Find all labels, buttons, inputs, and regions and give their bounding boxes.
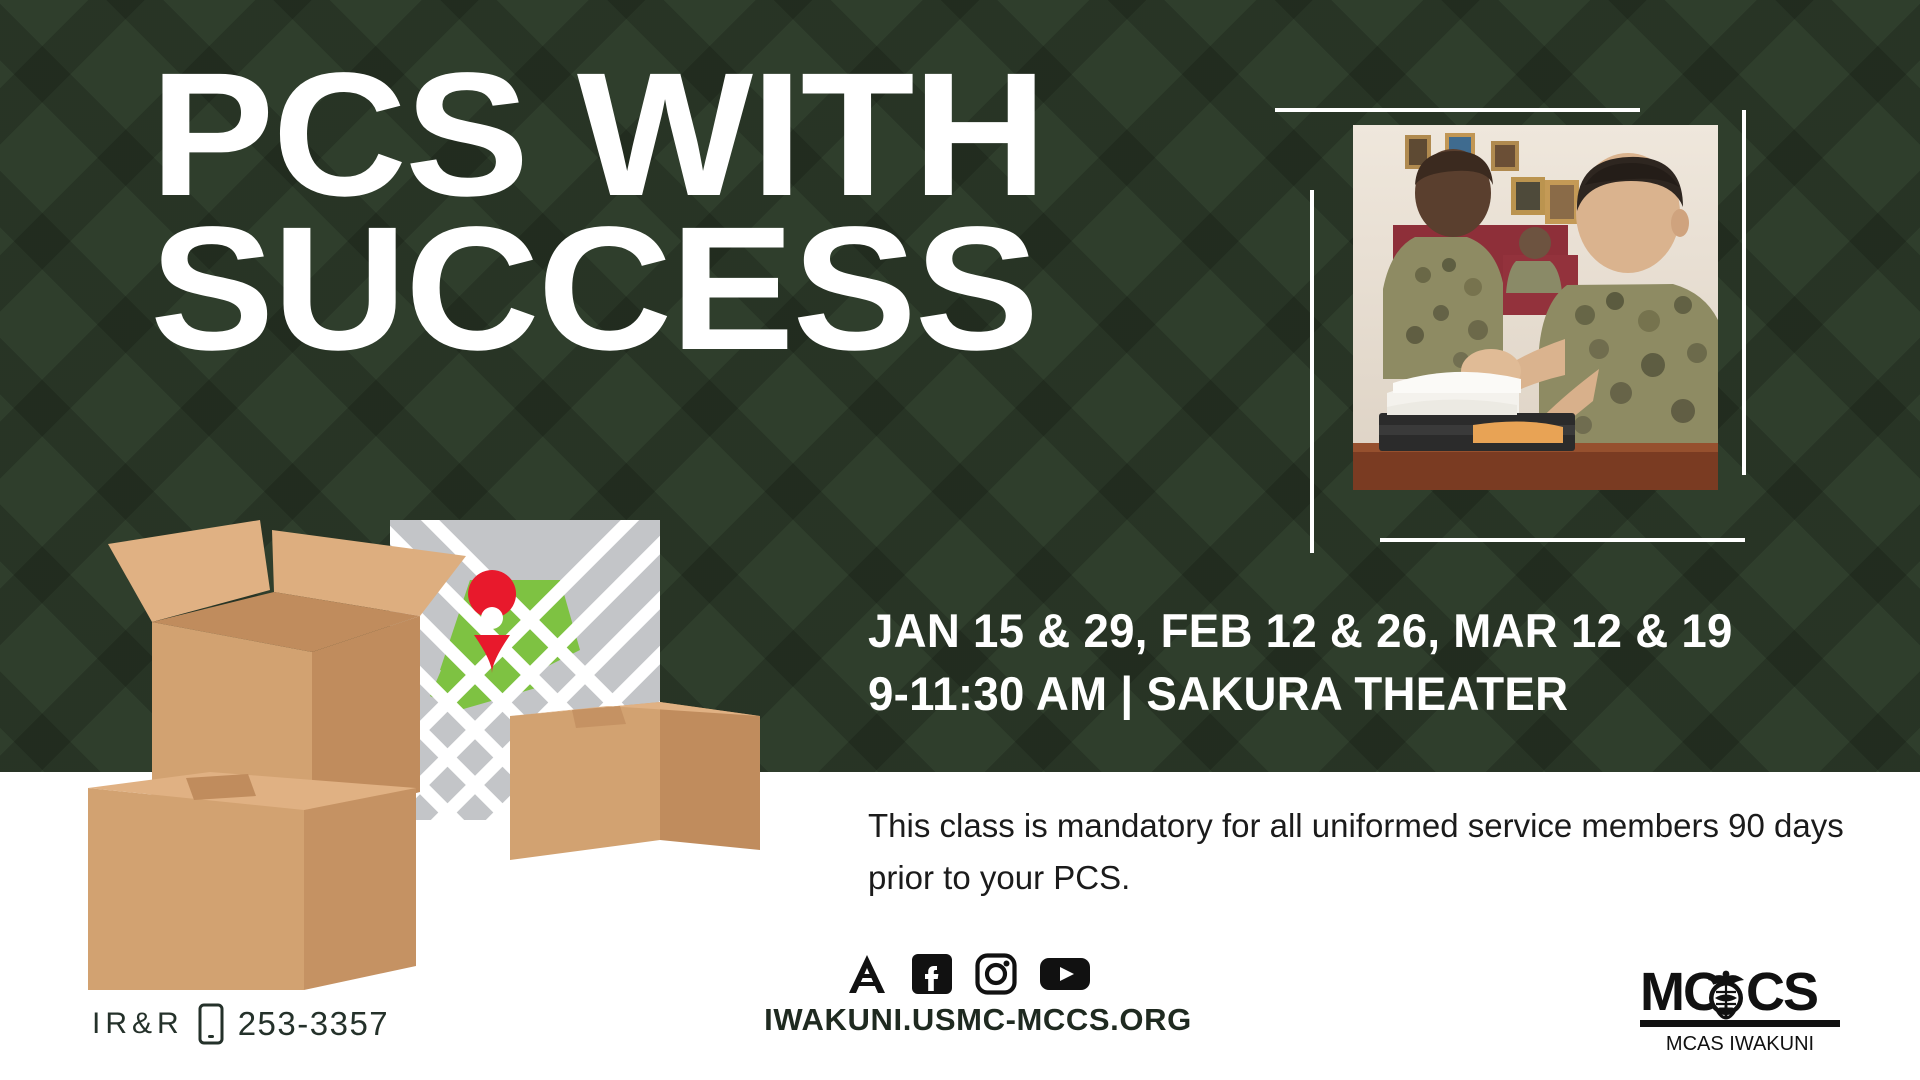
moving-boxes-and-map-illustration [60, 520, 820, 990]
event-time-location: 9-11:30 AM | SAKURA THEATER [868, 663, 1838, 726]
event-details: JAN 15 & 29, FEB 12 & 26, MAR 12 & 19 9-… [868, 600, 1868, 726]
class-requirement-note: This class is mandatory for all uniforme… [868, 800, 1878, 904]
mccs-logo: MC CS MCAS IWAKUNI [1640, 962, 1840, 1062]
flyer-canvas: PCS WITH SUCCESS [0, 0, 1920, 1080]
phone-icon [198, 1003, 224, 1045]
bracket-top-horizontal [1275, 108, 1640, 112]
marines-briefing-photo [1353, 125, 1718, 490]
page-title: PCS WITH SUCCESS [150, 62, 1050, 364]
facebook-icon[interactable] [911, 953, 953, 995]
contact-label: IR&R [92, 1007, 184, 1041]
box-bottom [88, 772, 416, 990]
website-url[interactable]: IWAKUNI.USMC-MCCS.ORG [718, 1002, 1238, 1038]
svg-text:CS: CS [1746, 962, 1817, 1022]
title-line-1: PCS WITH [150, 62, 1104, 210]
box-open [108, 520, 466, 820]
bracket-bottom-horizontal [1380, 538, 1745, 542]
social-icons-row [845, 952, 1091, 996]
box-right [510, 702, 760, 860]
photo-frame [1270, 80, 1830, 560]
contact-phone-number: 253-3357 [238, 1005, 389, 1043]
title-line-2: SUCCESS [150, 216, 1104, 364]
svg-text:MC: MC [1640, 962, 1721, 1022]
contact-info: IR&R 253-3357 [92, 1003, 389, 1045]
bracket-left-vertical [1310, 190, 1314, 553]
instagram-icon[interactable] [975, 953, 1017, 995]
mccs-tagline: MCAS IWAKUNI [1666, 1033, 1814, 1055]
bracket-right-vertical [1742, 110, 1746, 475]
event-dates: JAN 15 & 29, FEB 12 & 26, MAR 12 & 19 [868, 600, 1838, 663]
youtube-icon[interactable] [1039, 954, 1091, 994]
mccs-app-icon[interactable] [845, 952, 889, 996]
